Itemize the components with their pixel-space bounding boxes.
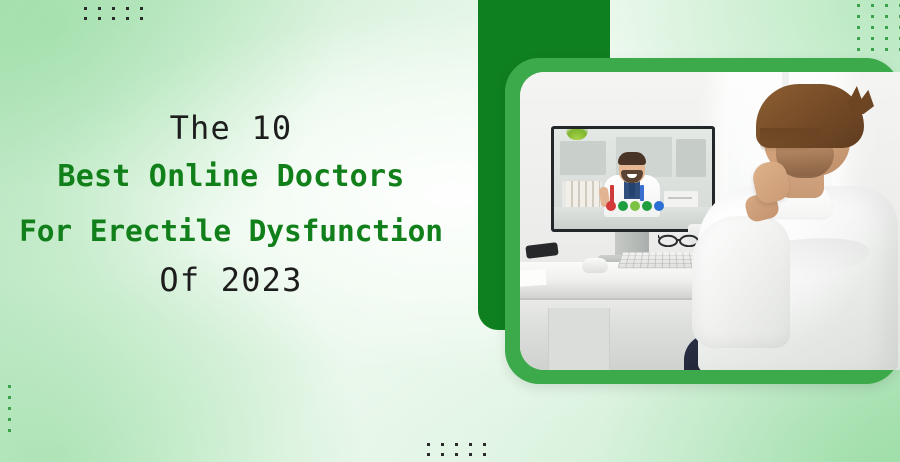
headline-block: The 10 Best Online Doctors For Erectile … — [0, 106, 462, 302]
monitor-screen — [554, 129, 712, 229]
headline-line-3: For Erectile Dysfunction — [0, 204, 462, 258]
dot — [84, 7, 87, 10]
dot — [112, 7, 115, 10]
molecule-ball — [642, 201, 652, 211]
dot — [8, 407, 11, 410]
computer-mouse — [582, 258, 608, 273]
office-scene — [520, 72, 900, 370]
dot — [441, 443, 444, 446]
shelf — [560, 141, 606, 175]
molecule-ball — [618, 201, 628, 211]
headline-line-4: Of 2023 — [0, 258, 462, 302]
dot-grid-top-left — [84, 7, 154, 27]
doctor-hair — [618, 152, 646, 165]
consultation-photo — [520, 72, 900, 370]
desk-drawer-panel — [548, 308, 610, 370]
dot — [427, 443, 430, 446]
paper-box-label — [668, 197, 692, 199]
dot — [112, 17, 115, 20]
books — [566, 181, 600, 209]
dot — [8, 385, 11, 388]
marker-blue — [640, 185, 644, 201]
blog-banner: The 10 Best Online Doctors For Erectile … — [0, 0, 900, 462]
molecule-model — [606, 201, 664, 211]
dot — [455, 453, 458, 456]
headline-line-2: Best Online Doctors — [0, 150, 462, 204]
molecule-ball — [654, 201, 664, 211]
dot — [8, 396, 11, 399]
dot — [126, 17, 129, 20]
eyeglasses-icon — [658, 232, 700, 246]
molecule-ball — [630, 201, 640, 211]
molecule-ball — [606, 201, 616, 211]
dot — [455, 443, 458, 446]
headline-line-1: The 10 — [0, 106, 462, 150]
dot-column-left — [8, 385, 18, 440]
dot — [98, 17, 101, 20]
dot — [469, 453, 472, 456]
dot — [140, 17, 143, 20]
dot — [140, 7, 143, 10]
desktop-monitor — [551, 126, 715, 232]
dot — [126, 7, 129, 10]
patient-arm — [692, 216, 790, 348]
dot — [98, 7, 101, 10]
dot — [441, 453, 444, 456]
dot — [84, 17, 87, 20]
patient-figure — [698, 90, 900, 370]
paper-sheet — [520, 269, 547, 287]
patient-hair-spike — [848, 86, 874, 114]
dot — [8, 429, 11, 432]
dot — [427, 453, 430, 456]
dot — [469, 443, 472, 446]
dot — [8, 418, 11, 421]
hero-visual — [478, 0, 900, 462]
